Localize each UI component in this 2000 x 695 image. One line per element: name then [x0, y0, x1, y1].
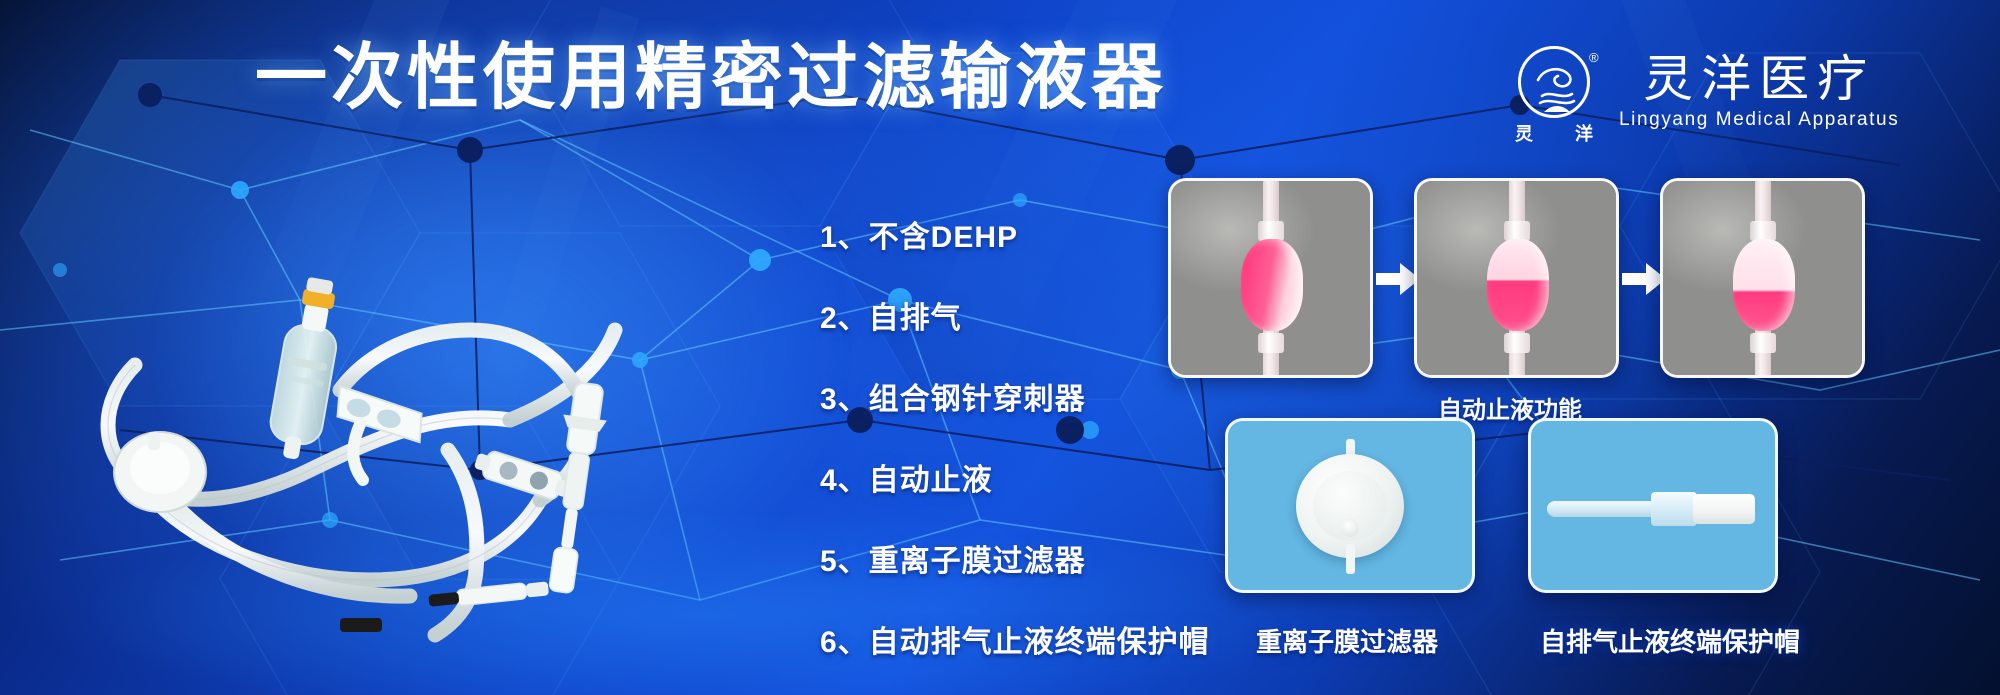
- brand-name-cn: 灵洋医疗: [1643, 53, 1875, 106]
- photo-panel-auto-stop-3: [1660, 178, 1865, 378]
- feature-item-6: 6、自动排气止液终端保护帽: [820, 617, 1240, 661]
- brand-name-en: Lingyang Medical Apparatus: [1619, 109, 1899, 131]
- logo-mark-char-left: 灵: [1515, 120, 1533, 146]
- photo-panel-auto-stop-2: [1414, 178, 1619, 378]
- feature-item-5: 5、重离子膜过滤器: [820, 536, 1240, 580]
- caption-terminal-protective-cap: 自排气止液终端保护帽: [1540, 622, 1800, 659]
- feature-item-3: 3、组合钢针穿刺器: [820, 374, 1240, 418]
- logo-mark-char-right: 洋: [1575, 120, 1593, 146]
- lingyang-seagull-emblem-icon: ® 灵 洋: [1515, 46, 1601, 142]
- product-banner: 一次性使用精密过滤输液器 ® 灵 洋 灵洋医疗 Lingyang Medical…: [0, 0, 2000, 695]
- photo-panel-terminal-protective-cap: [1528, 418, 1778, 593]
- registered-mark: ®: [1589, 50, 1599, 65]
- photo-panel-heavy-ion-membrane-filter: [1225, 418, 1475, 593]
- brand-logo: ® 灵 洋 灵洋医疗 Lingyang Medical Apparatus: [1515, 46, 1899, 142]
- caption-heavy-ion-membrane-filter: 重离子膜过滤器: [1256, 622, 1438, 659]
- page-title: 一次性使用精密过滤输液器: [255, 42, 1167, 114]
- precision-filter-infusion-set-photo: [40, 150, 760, 650]
- photo-panel-auto-stop-1: [1168, 178, 1373, 378]
- feature-item-4: 4、自动止液: [820, 455, 1240, 499]
